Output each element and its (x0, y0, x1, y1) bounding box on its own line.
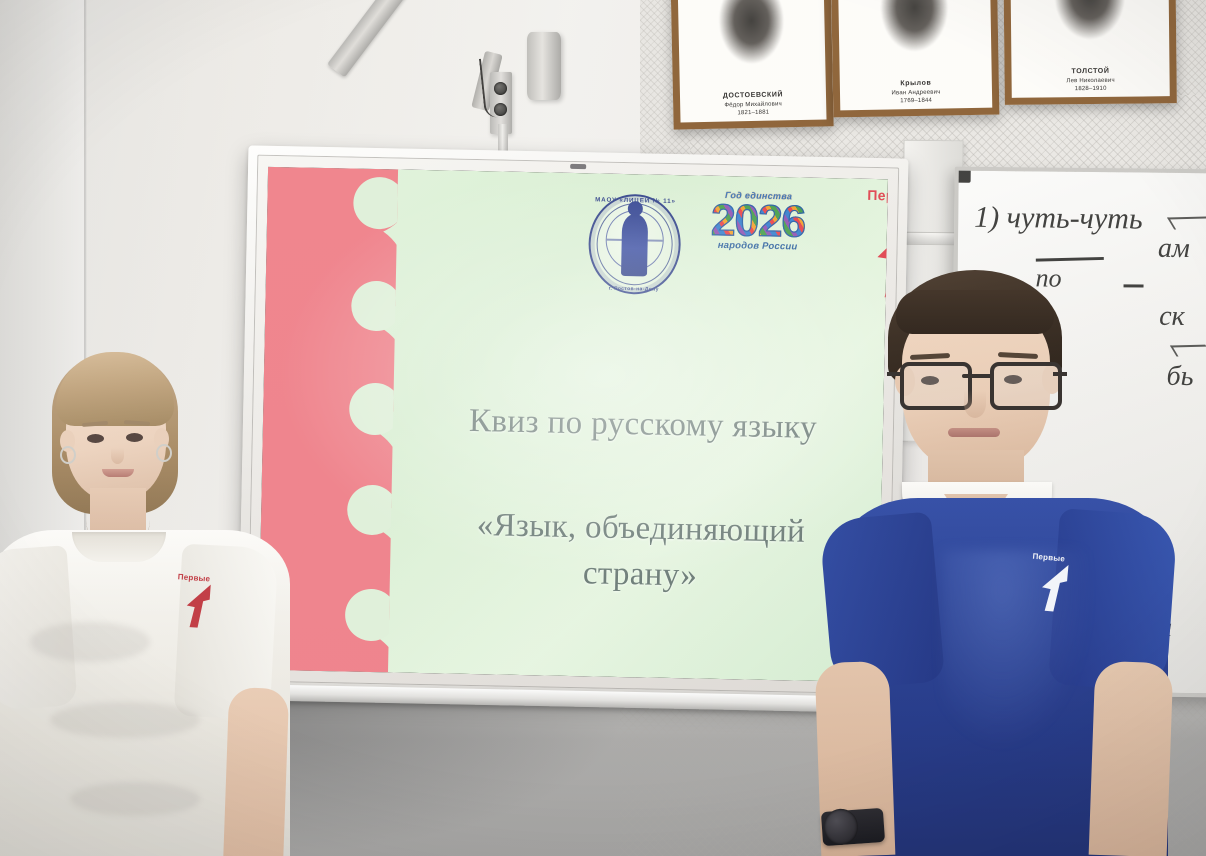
girl-nose (111, 448, 124, 464)
whiteboard-line: ам (1158, 233, 1190, 265)
portrait-years: 1821–1881 (680, 107, 826, 118)
glasses-temple (1053, 372, 1067, 376)
girl-eye (87, 434, 104, 443)
fabric-fold (70, 782, 200, 816)
fabric-fold (30, 622, 150, 662)
portrait-caption: ТОЛСТОЙ Лев Николаевич 1828–1910 (1011, 67, 1169, 94)
portrait-caption: Крылов Иван Андреевич 1769–1844 (840, 78, 992, 106)
whiteboard-corner-cap (955, 167, 971, 183)
portrait-caption: ДОСТОЕВСКИЙ Фёдор Михайлович 1821–1881 (680, 90, 827, 119)
fabric-fold (50, 702, 200, 738)
board-mount-pin (570, 164, 586, 169)
power-outlet-icon[interactable] (494, 82, 507, 95)
school-seal-icon: МАОУ «ЛИЦЕЙ № 11» г. Ростов-на-Дону (588, 193, 682, 295)
pervye-arrow-icon (1028, 561, 1076, 615)
earring-icon (156, 444, 172, 462)
pervye-label: Первые (850, 187, 888, 205)
student-girl: Первые (0, 352, 320, 856)
whiteboard-caret-icon (1167, 216, 1206, 229)
boy-mouth (948, 428, 1000, 437)
girl-arm-right (223, 687, 289, 856)
watch-face (823, 808, 859, 846)
whiteboard-line: 1) чуть-чуть (974, 201, 1143, 237)
pervye-arrow-icon (174, 581, 217, 630)
glasses-bridge (962, 374, 992, 378)
portrait-sketch (1031, 0, 1149, 71)
earring-icon (60, 446, 76, 464)
boy-arm-right (1089, 661, 1174, 856)
girl-mouth (102, 469, 134, 477)
seal-figure-icon (621, 214, 648, 277)
seal-text-bottom: г. Ростов-на-Дону (588, 285, 680, 293)
pervye-logo-shirt-girl: Первые (174, 572, 230, 635)
projector-mount-head-icon (527, 32, 561, 100)
portrait-sketch (857, 0, 972, 83)
glasses-lens (990, 362, 1062, 410)
whiteboard-overbar (1036, 257, 1104, 261)
pervye-logo-shirt-boy: Первые (1027, 552, 1089, 623)
girl-eye (126, 433, 143, 442)
portrait-sketch (696, 0, 807, 96)
portrait-years: 1828–1910 (1012, 84, 1170, 94)
classroom-scene: ДОСТОЕВСКИЙ Фёдор Михайлович 1821–1881 К… (0, 0, 1206, 856)
seal-text-top: МАОУ «ЛИЦЕЙ № 11» (589, 196, 681, 205)
wristwatch-icon (821, 808, 885, 846)
glasses-lens (900, 362, 972, 410)
student-boy: Первые (792, 270, 1206, 856)
year-2026-digits: 2026 (699, 199, 818, 243)
board-slide-rail-bracket (906, 232, 956, 246)
portrait-frame-krylov: Крылов Иван Андреевич 1769–1844 (831, 0, 1000, 117)
boy-hair-fringe (896, 290, 1054, 334)
glasses-temple (887, 372, 901, 376)
portrait-frame-dostoevsky: ДОСТОЕВСКИЙ Фёдор Михайлович 1821–1881 (670, 0, 833, 130)
portrait-years: 1769–1844 (840, 96, 992, 107)
boy-nose (964, 390, 986, 418)
slide-scallop-notch (345, 588, 398, 641)
girl-hair-top (56, 352, 174, 426)
portrait-frame-tolstoy: ТОЛСТОЙ Лев Николаевич 1828–1910 (1003, 0, 1177, 105)
